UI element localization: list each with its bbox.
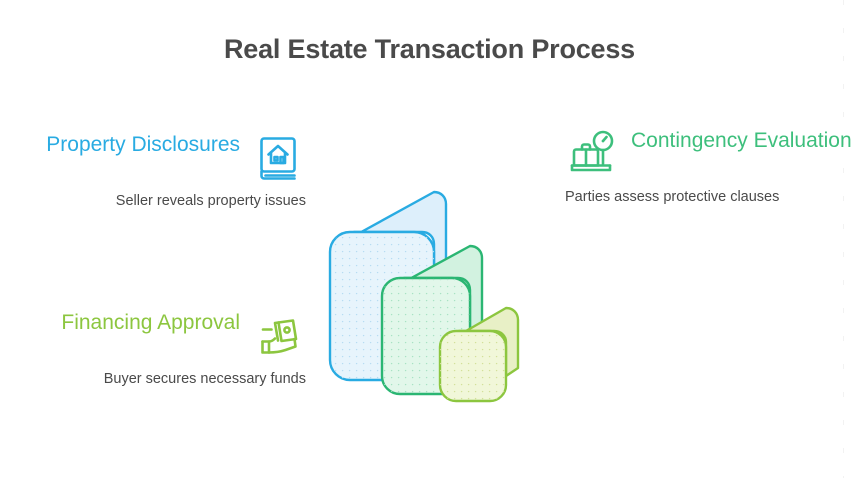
item-header: Property Disclosures xyxy=(14,132,306,184)
page-title: Real Estate Transaction Process xyxy=(0,34,859,65)
item-header: Financing Approval xyxy=(14,310,306,362)
item-description-financing-approval: Buyer secures necessary funds xyxy=(14,370,306,389)
item-header: Contingency Evaluation xyxy=(565,128,855,180)
infographic-canvas: Real Estate Transaction Process Property… xyxy=(0,0,859,478)
book-house-icon xyxy=(254,132,306,184)
item-description-contingency-evaluation: Parties assess protective clauses xyxy=(565,188,855,207)
nested-isometric-boxes-graphic xyxy=(320,180,560,412)
item-financing-approval[interactable]: Financing Approval Buyer secures necessa… xyxy=(14,310,306,389)
item-title-financing-approval: Financing Approval xyxy=(61,310,240,335)
hand-holding-cash-icon xyxy=(254,310,306,362)
item-title-property-disclosures: Property Disclosures xyxy=(46,132,240,157)
briefcase-on-scale-icon xyxy=(565,128,617,180)
item-description-property-disclosures: Seller reveals property issues xyxy=(14,192,306,211)
item-contingency-evaluation[interactable]: Contingency Evaluation Parties assess pr… xyxy=(565,128,855,207)
canvas-guide-line xyxy=(843,0,844,478)
item-property-disclosures[interactable]: Property Disclosures Seller reveals prop… xyxy=(14,132,306,211)
item-title-contingency-evaluation: Contingency Evaluation xyxy=(631,128,852,153)
